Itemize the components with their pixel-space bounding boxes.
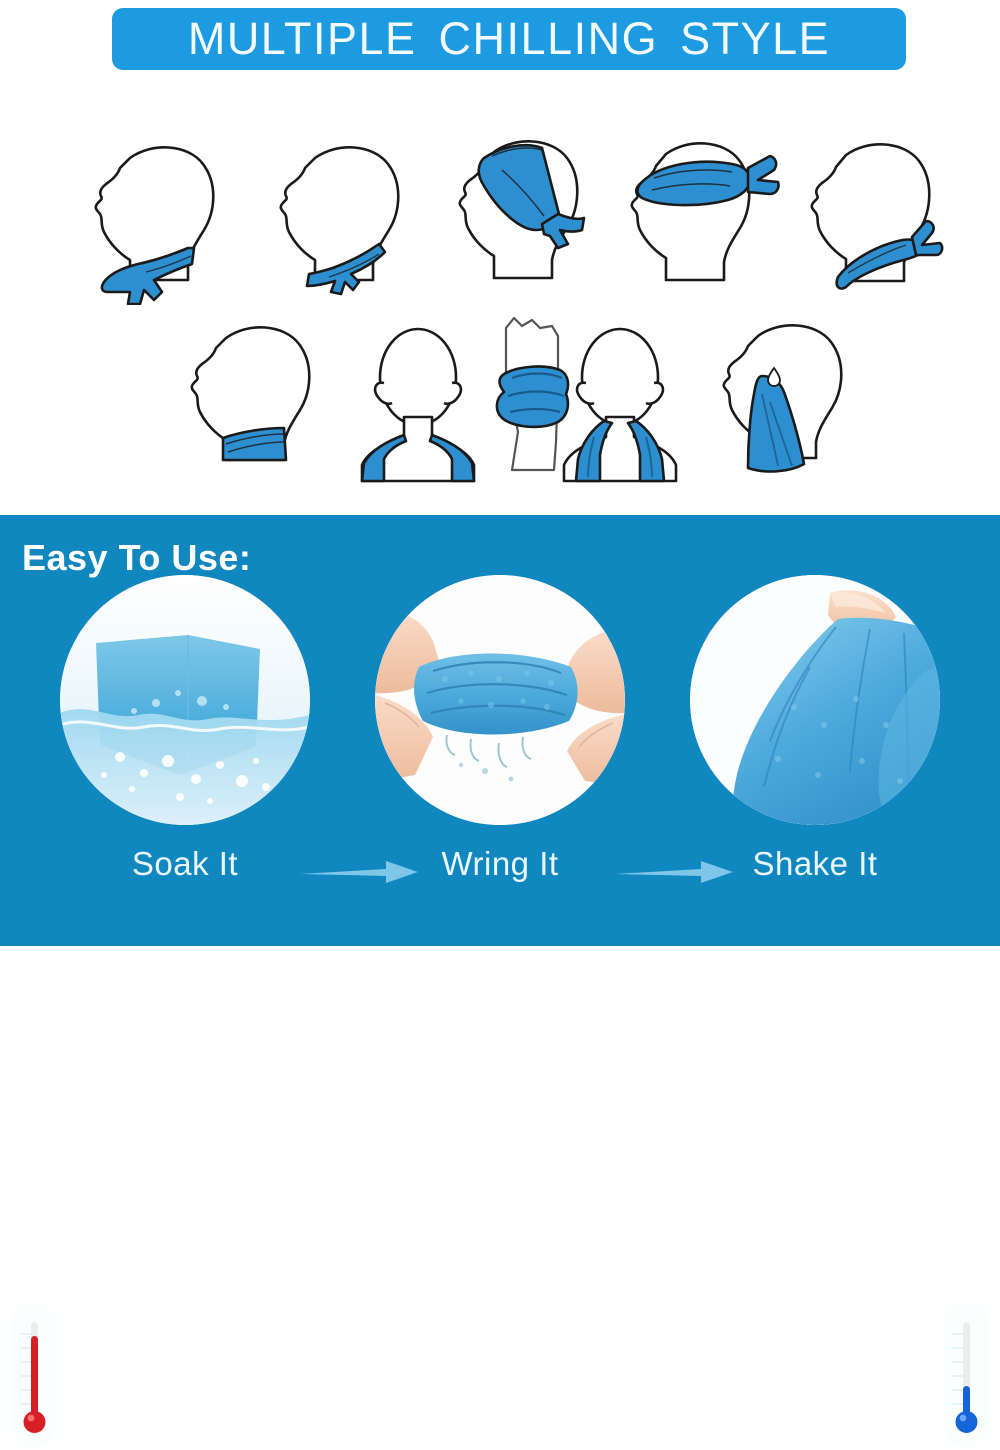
- step-label-shake-it: Shake It: [700, 845, 930, 883]
- step-label-soak-it: Soak It: [70, 845, 300, 883]
- style-figure-neck-scarf-front-knot: [70, 140, 255, 305]
- title-word-2: CHILLING: [439, 13, 659, 64]
- photo-soak-it: [60, 575, 310, 825]
- style-figure-neck-gaiter: [168, 320, 353, 485]
- style-figure-neck-scarf-side-knot: [255, 140, 440, 305]
- title-word-3: STYLE: [680, 13, 830, 64]
- product-infographic: MULTIPLECHILLINGSTYLE: [0, 0, 1000, 946]
- photo-wring-it: [375, 575, 625, 825]
- thermometer-cold-icon: [940, 1300, 992, 1450]
- step-label-wring-it: Wring It: [385, 845, 615, 883]
- thermometer-hot-icon: [8, 1300, 60, 1450]
- easy-to-use-panel: Easy To Use:: [0, 515, 1000, 946]
- style-figure-headband: [608, 130, 803, 305]
- chilling-styles-illustrations: [0, 80, 1000, 510]
- steps-row: Soak It Wring It Shake It: [0, 845, 1000, 925]
- title-banner: MULTIPLECHILLINGSTYLE: [112, 8, 906, 70]
- style-figure-neck-scarf-back-knot: [790, 135, 975, 305]
- easy-to-use-title: Easy To Use:: [22, 537, 251, 579]
- page-title: MULTIPLECHILLINGSTYLE: [188, 13, 830, 65]
- style-figure-neck-hang: [540, 325, 700, 485]
- style-figure-shoulder-drape: [338, 325, 498, 485]
- style-figure-face-wipe: [700, 318, 900, 488]
- photo-shake-it: [690, 575, 940, 825]
- title-word-1: MULTIPLE: [188, 13, 417, 64]
- style-figure-pirate-head-wrap: [432, 130, 622, 305]
